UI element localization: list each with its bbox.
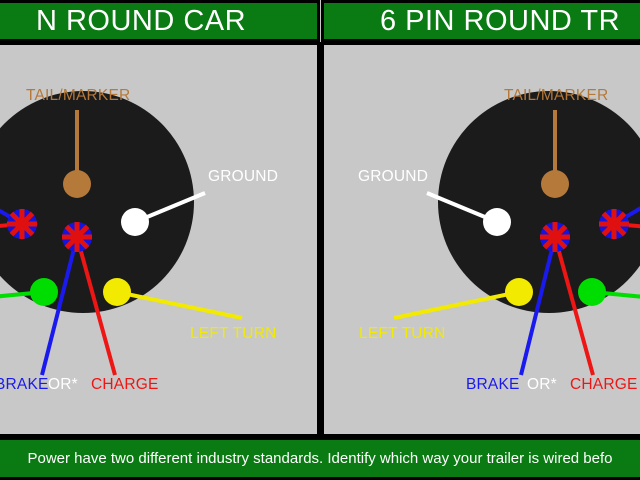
header-trailer-side: 6 PIN ROUND TR [321, 0, 640, 42]
label-left-turn-car: LEFT TURN [190, 325, 277, 343]
bottom-banner-text: Power have two different industry standa… [28, 450, 613, 467]
panel-divider [318, 42, 321, 437]
label-ground-car: GROUND [208, 168, 278, 186]
header-title-car: N ROUND CAR [36, 5, 246, 38]
label-tail-marker-car: TAIL/MARKER [26, 87, 130, 105]
label-charge-trailer: CHARGE [570, 376, 638, 394]
label-or-car: OR* [48, 376, 78, 394]
label-left-turn-trailer: LEFT TURN [359, 325, 446, 343]
label-tail-marker-trailer: TAIL/MARKER [504, 87, 608, 105]
wiring-diagram-canvas: N ROUND CAR 6 PIN ROUND TR [0, 0, 640, 480]
label-charge-car: CHARGE [91, 376, 159, 394]
header-car-side: N ROUND CAR [0, 0, 320, 42]
bottom-banner: Power have two different industry standa… [0, 437, 640, 480]
label-ground-trailer: GROUND [358, 168, 428, 186]
header-title-trailer: 6 PIN ROUND TR [380, 5, 620, 38]
label-or-trailer: OR* [527, 376, 557, 394]
label-brake-car: BRAKE [0, 376, 49, 394]
label-brake-trailer: BRAKE [466, 376, 520, 394]
